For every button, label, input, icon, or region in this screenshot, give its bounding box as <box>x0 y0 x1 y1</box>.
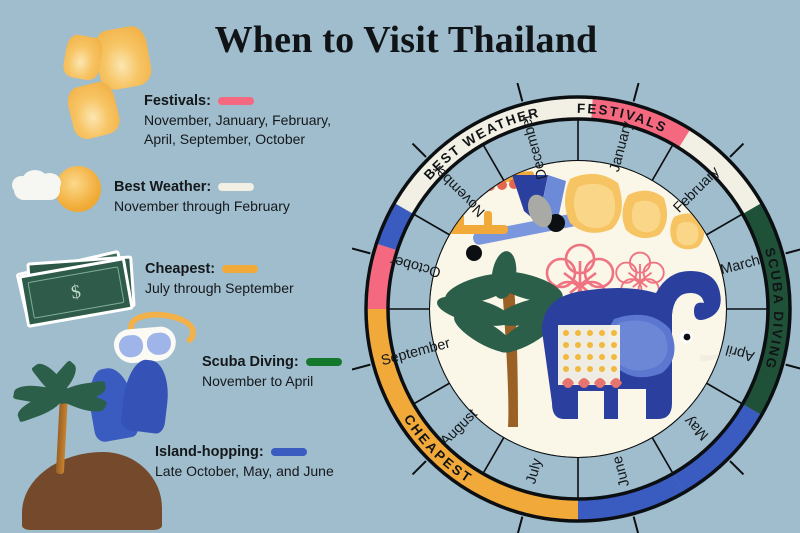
month-divider <box>706 383 742 404</box>
wheel-tick <box>413 461 426 474</box>
month-divider <box>413 383 449 404</box>
wheel-tick <box>786 365 800 370</box>
legend-swatch-island-hopping <box>271 448 307 456</box>
month-wheel-chart: JanuaryFebruaryMarchAprilMayJuneJulyAugu… <box>352 83 800 533</box>
legend-swatch-cheapest <box>222 265 258 273</box>
cloud-icon <box>14 180 60 200</box>
page-title: When to Visit Thailand <box>186 18 626 62</box>
wheel-tick <box>730 461 743 474</box>
infographic-canvas: When to Visit Thailand $ <box>0 0 800 533</box>
sun-icon <box>55 166 101 212</box>
lantern-icon <box>92 24 154 92</box>
wheel-tick <box>517 83 522 101</box>
month-label-june: June <box>610 454 634 489</box>
wheel-tick <box>413 144 426 157</box>
month-divider <box>706 214 742 235</box>
legend-detail-scuba-diving: November to April <box>202 372 342 391</box>
palm-frond-icon <box>57 384 108 418</box>
month-label-march: March <box>719 252 762 278</box>
palm-frond-icon <box>57 381 107 405</box>
wheel-tick <box>634 517 639 533</box>
month-divider <box>652 144 673 180</box>
palm-frond-icon <box>31 359 69 401</box>
palm-frond-icon <box>42 360 81 401</box>
banknote-icon <box>26 255 135 314</box>
legend-detail-best-weather: November through February <box>114 197 290 216</box>
palm-trunk-icon <box>56 392 68 474</box>
legend-detail-cheapest: July through September <box>145 279 294 298</box>
lantern-icon <box>62 33 105 82</box>
swim-fin-icon <box>84 365 140 444</box>
month-divider <box>652 437 673 473</box>
wheel-tick <box>786 248 800 253</box>
month-divider <box>483 437 504 473</box>
legend-swatch-best-weather <box>218 183 254 191</box>
month-divider <box>413 214 449 235</box>
legend-label-festivals: Festivals: <box>144 92 211 110</box>
month-divider <box>483 144 504 180</box>
legend-item-scuba-diving: Scuba Diving: November to April <box>202 353 342 391</box>
palm-island-illustration <box>6 370 171 530</box>
month-label-january: January <box>607 119 636 174</box>
money-illustration: $ <box>12 245 142 343</box>
month-label-april: April <box>724 341 756 364</box>
legend-item-island-hopping: Island-hopping: Late October, May, and J… <box>155 443 334 481</box>
goggle-lens-icon <box>118 334 144 358</box>
lantern-icon <box>64 79 122 142</box>
goggle-lens-icon <box>146 332 172 356</box>
legend-item-festivals: Festivals: November, January, February, … <box>144 92 331 149</box>
goggles-illustration <box>108 310 198 370</box>
banknote-border <box>27 266 124 318</box>
legend-label-best-weather: Best Weather: <box>114 178 211 196</box>
palm-frond-icon <box>15 390 66 422</box>
wheel-tick <box>352 248 370 253</box>
goggle-body-icon <box>113 325 178 364</box>
month-label-august: August <box>437 406 480 449</box>
banknote-icon <box>16 250 131 325</box>
goggle-strap-icon <box>126 309 197 350</box>
legend-label-island-hopping: Island-hopping: <box>155 443 264 461</box>
legend-swatch-scuba-diving <box>306 358 342 366</box>
wheel-svg: JanuaryFebruaryMarchAprilMayJuneJulyAugu… <box>352 83 800 533</box>
month-label-may: May <box>681 412 712 443</box>
legend-detail-island-hopping: Late October, May, and June <box>155 462 334 481</box>
legend-swatch-festivals <box>218 97 254 105</box>
legend-item-cheapest: Cheapest: July through September <box>145 260 294 298</box>
legend-label-scuba-diving: Scuba Diving: <box>202 353 299 371</box>
banknote-icon: $ <box>18 257 134 328</box>
wheel-tick <box>634 83 639 101</box>
month-label-july: July <box>523 456 545 486</box>
wheel-tick <box>517 517 522 533</box>
legend-item-best-weather: Best Weather: November through February <box>114 178 290 216</box>
cloud-icon <box>38 173 61 193</box>
dollar-sign-icon: $ <box>69 281 82 304</box>
fins-illustration <box>88 358 188 440</box>
legend-label-cheapest: Cheapest: <box>145 260 215 278</box>
month-label-october: October <box>389 251 443 280</box>
cloud-icon <box>22 170 48 192</box>
sun-cloud-illustration <box>8 158 113 234</box>
swim-fin-icon <box>120 358 172 435</box>
month-label-february: February <box>670 163 723 216</box>
wheel-tick <box>352 365 370 370</box>
island-rock-icon <box>22 452 162 530</box>
cloud-icon <box>12 176 31 194</box>
palm-frond-icon <box>13 382 63 407</box>
legend-detail-festivals: November, January, February, April, Sept… <box>144 111 331 149</box>
wheel-tick <box>730 144 743 157</box>
